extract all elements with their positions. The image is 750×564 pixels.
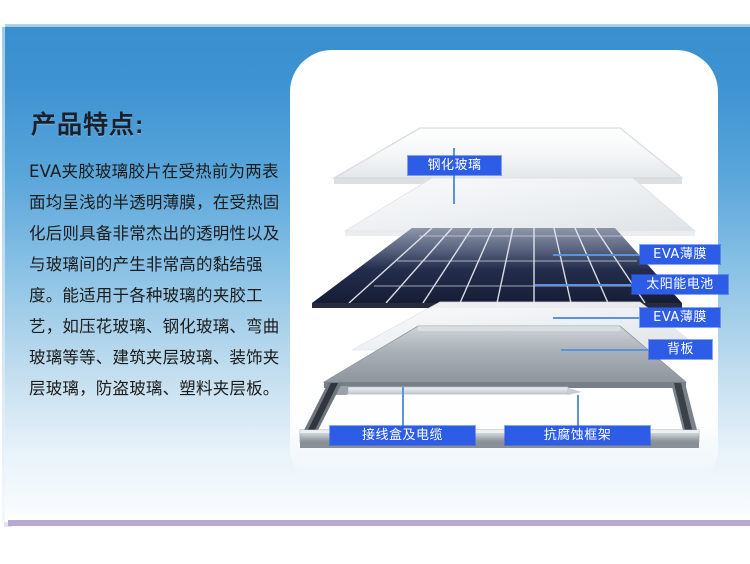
label-backsheet[interactable]: 背板 <box>649 340 712 359</box>
label-tempered-glass[interactable]: 钢化玻璃 <box>408 156 501 175</box>
label-solar-cell[interactable]: 太阳能电池 <box>632 275 728 294</box>
connector-solar-cell <box>535 284 631 286</box>
label-frame[interactable]: 抗腐蚀框架 <box>505 426 650 445</box>
page-title: 产品特点: <box>31 112 291 140</box>
label-junction-box[interactable]: 接线盒及电缆 <box>330 426 475 445</box>
connector-junction-box <box>402 387 404 426</box>
label-eva-film-lower[interactable]: EVA薄膜 <box>640 308 720 327</box>
label-eva-film-upper[interactable]: EVA薄膜 <box>640 245 720 264</box>
feature-description: EVA夹胶玻璃胶片在受热前为两表面均呈浅的半透明薄膜，在受热固化后则具备非常杰出… <box>29 156 291 404</box>
layer-solar-cells <box>312 228 682 308</box>
bottom-divider <box>8 520 750 526</box>
feature-text-column: 产品特点: EVA夹胶玻璃胶片在受热前为两表面均呈浅的半透明薄膜，在受热固化后则… <box>29 112 291 404</box>
solar-panel-diagram <box>290 50 718 480</box>
connector-backsheet <box>561 349 648 351</box>
connector-eva-lower <box>553 317 639 319</box>
layer-eva-upper <box>345 178 695 236</box>
blue-gradient-card: 产品特点: EVA夹胶玻璃胶片在受热前为两表面均呈浅的半透明薄膜，在受热固化后则… <box>5 27 750 524</box>
page-root: 产品特点: EVA夹胶玻璃胶片在受热前为两表面均呈浅的半透明薄膜，在受热固化后则… <box>0 0 750 564</box>
layer-junction-box <box>334 386 582 395</box>
connector-eva-upper <box>553 254 639 256</box>
layer-tempered-glass <box>334 128 682 184</box>
connector-frame <box>577 395 579 426</box>
